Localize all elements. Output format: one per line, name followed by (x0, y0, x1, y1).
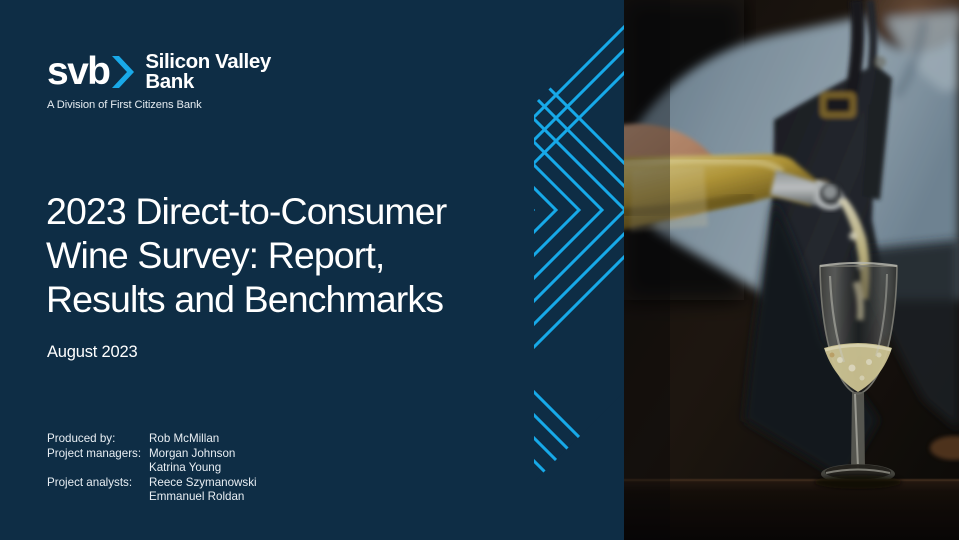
logo-wordmark-line1: Silicon Valley (145, 51, 270, 72)
credit-label: Project managers: (47, 447, 149, 462)
credit-label (47, 461, 149, 476)
svb-mark-text: svb (47, 52, 109, 92)
credit-row: Project managers: Morgan Johnson (47, 447, 257, 462)
credit-value: Katrina Young (149, 461, 221, 476)
title-slide: svb Silicon Valley Bank A Division of Fi… (0, 0, 959, 540)
logo-tagline: A Division of First Citizens Bank (47, 99, 317, 112)
logo-row: svb Silicon Valley Bank (47, 50, 317, 94)
credit-value: Emmanuel Roldan (149, 490, 244, 505)
svb-logo: svb Silicon Valley Bank A Division of Fi… (47, 50, 317, 112)
wine-pouring-photo (624, 0, 959, 540)
title-line-1: 2023 Direct-to-Consumer (46, 189, 566, 233)
credit-label: Produced by: (47, 432, 149, 447)
credit-row: Project analysts: Reece Szymanowski (47, 476, 257, 491)
credit-value: Rob McMillan (149, 432, 219, 447)
credit-label (47, 490, 149, 505)
chevron-right-icon (110, 55, 136, 89)
credit-row: Emmanuel Roldan (47, 490, 257, 505)
credit-value: Reece Szymanowski (149, 476, 257, 491)
title-line-3: Results and Benchmarks (46, 277, 566, 321)
credit-label: Project analysts: (47, 476, 149, 491)
page-title: 2023 Direct-to-Consumer Wine Survey: Rep… (46, 189, 566, 321)
credit-row: Produced by: Rob McMillan (47, 432, 257, 447)
title-line-2: Wine Survey: Report, (46, 233, 566, 277)
credit-value: Morgan Johnson (149, 447, 235, 462)
credit-row: Katrina Young (47, 461, 257, 476)
logo-wordmark-line2: Bank (145, 71, 270, 92)
publication-date: August 2023 (47, 343, 137, 362)
logo-wordmark: Silicon Valley Bank (145, 52, 270, 92)
credits-block: Produced by: Rob McMillan Project manage… (47, 432, 257, 505)
